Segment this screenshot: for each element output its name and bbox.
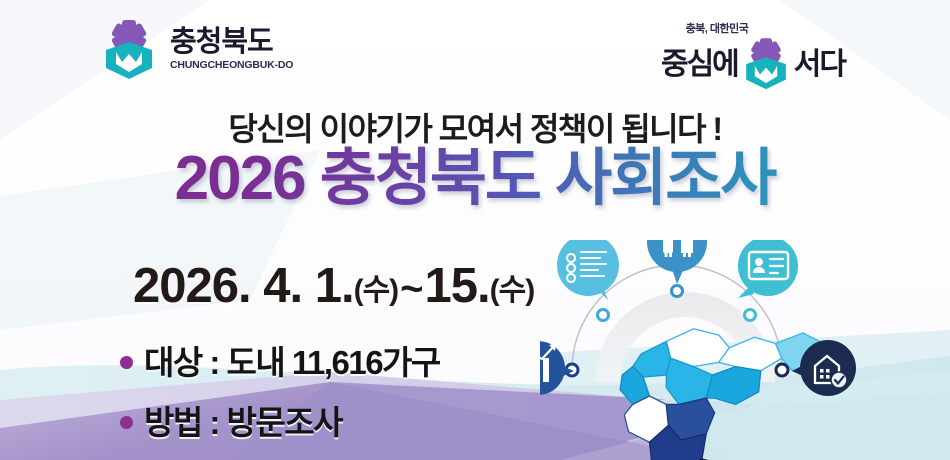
- period-end-date: 15.: [425, 259, 490, 313]
- period-end-dow: (수): [490, 274, 535, 307]
- chungcheongbuk-do-map: [620, 329, 824, 460]
- arc-node: [672, 286, 683, 297]
- page-title: 2026 충청북도 사회조사: [0, 146, 950, 211]
- survey-banner: 충청북도 CHUNGCHEONGBUK-DO 충북, 대한민국 중심에 서다 당…: [0, 0, 950, 460]
- logo-english-name: CHUNGCHEONGBUK-DO: [170, 60, 293, 71]
- arc-node: [598, 310, 609, 321]
- detail-target-text: 대상 : 도내 11,616가구: [144, 336, 440, 384]
- period-start-date: 2026. 4. 1.: [133, 259, 354, 313]
- bullet-dot-icon: [120, 356, 133, 369]
- arc-node: [745, 310, 756, 321]
- period-start-dow: (수): [354, 274, 399, 307]
- slogan-text-before: 중심에: [661, 50, 738, 80]
- survey-period: 2026. 4. 1.(수)~15.(수): [133, 258, 534, 314]
- logo-korean-name: 충청북도: [170, 28, 293, 57]
- slogan-small-text: 충북, 대한민국: [661, 20, 773, 36]
- detail-method-text: 방법 : 방문조사: [144, 396, 342, 444]
- list-item: 방법 : 방문조사: [120, 396, 440, 444]
- marker-id-card[interactable]: [738, 240, 798, 298]
- bullet-dot-icon: [120, 416, 133, 429]
- slogan-text-after: 서다: [794, 50, 845, 80]
- period-range-symbol: ~: [398, 267, 424, 311]
- marker-two-people[interactable]: [647, 240, 707, 284]
- list-item: 대상 : 도내 11,616가구: [120, 336, 440, 384]
- chungcheongbuk-do-logo[interactable]: 충청북도 CHUNGCHEONGBUK-DO: [100, 18, 293, 80]
- province-emblem-icon: [100, 18, 158, 80]
- marker-checklist[interactable]: [557, 240, 619, 300]
- province-emblem-icon: [741, 38, 791, 92]
- detail-list: 대상 : 도내 11,616가구 방법 : 방문조사: [120, 336, 440, 456]
- slogan-logo[interactable]: 충북, 대한민국 중심에 서다: [661, 20, 845, 92]
- survey-infographic: [540, 240, 940, 460]
- arc-node: [776, 364, 788, 376]
